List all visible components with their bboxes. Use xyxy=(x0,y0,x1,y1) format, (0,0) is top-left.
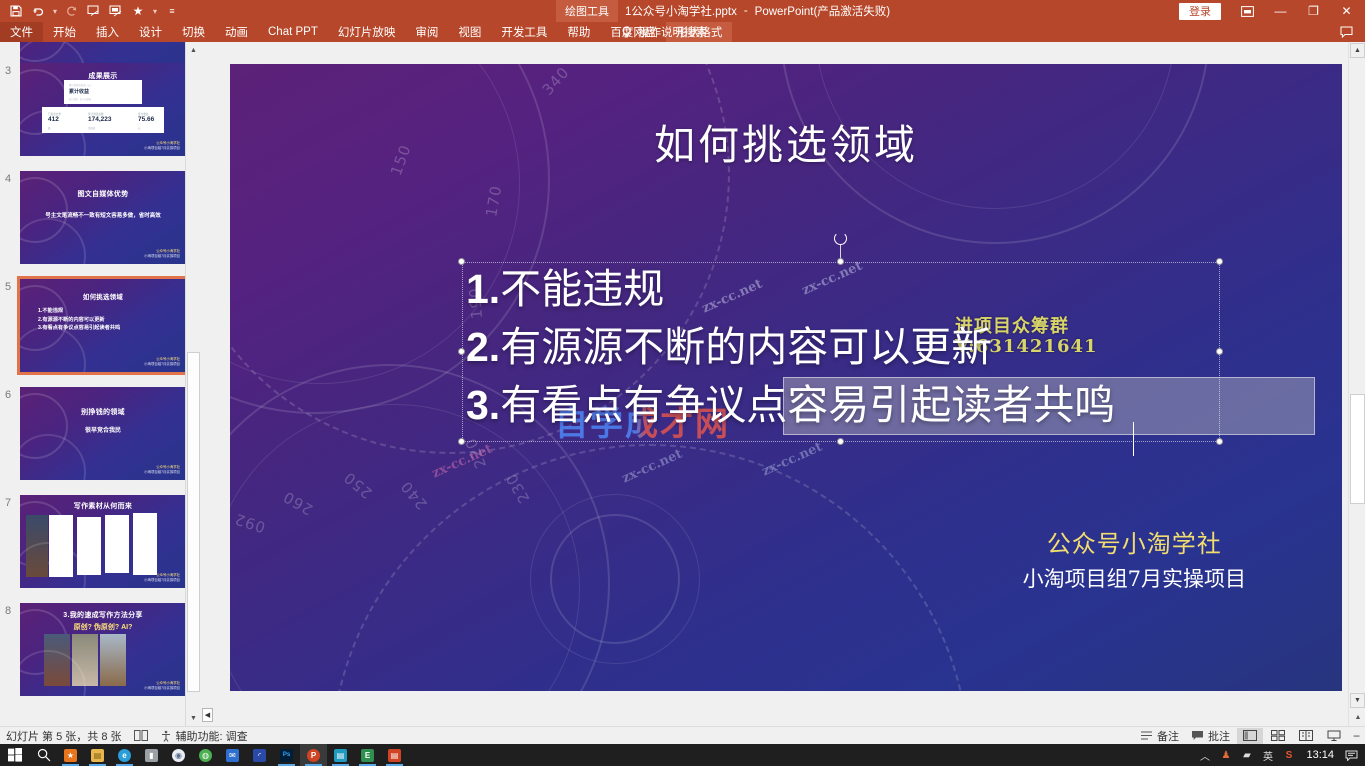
thumbnail-canvas: 写作素材从何而来 公众号小淘学社 小淘项目组7月实操项目 xyxy=(20,495,186,588)
decor-number: 340 xyxy=(539,64,574,99)
thumbnail-footer: 公众号小淘学社 小淘项目组7月实操项目 xyxy=(144,465,180,475)
taskbar-google-chrome[interactable]: ◍ xyxy=(192,744,219,766)
decor-ring xyxy=(230,404,580,691)
content-image xyxy=(49,515,73,577)
status-bar: 幻灯片 第 5 张，共 8 张 辅助功能: 调查 备注 批注 xyxy=(0,726,1365,744)
ribbon-display-options-icon[interactable] xyxy=(1231,0,1264,22)
start-from-current-slide-icon[interactable] xyxy=(106,1,126,21)
scroll-up-icon[interactable]: ▲ xyxy=(186,42,200,58)
windows-start-icon[interactable] xyxy=(0,744,30,766)
decor-number: 260 xyxy=(280,487,316,518)
start-slideshow-icon[interactable] xyxy=(84,1,104,21)
language-icon[interactable] xyxy=(128,730,154,741)
list-item[interactable]: 6 别挣钱的领域 很早竞合我民 公众号小淘学社 小淘项目组7月实操项目 xyxy=(0,387,200,480)
tab-file[interactable]: 文件 xyxy=(0,22,43,42)
undo-dropdown-icon[interactable]: ▾ xyxy=(50,7,60,16)
search-icon[interactable] xyxy=(30,744,57,766)
footer-brand-line: 公众号小淘学社 xyxy=(1023,524,1246,559)
accessibility-status[interactable]: 辅助功能: 调查 xyxy=(154,728,254,744)
taskbar-clock[interactable]: 13:14 xyxy=(1302,749,1338,761)
decor-number: 240 xyxy=(397,477,431,513)
restore-button[interactable]: ❐ xyxy=(1297,0,1330,22)
bullet-line-3[interactable]: 3.有看点有争议点容易引起读者共鸣 xyxy=(466,376,1236,434)
taskbar-app-leaf[interactable]: ◜ xyxy=(246,744,273,766)
tab-chat-ppt[interactable]: Chat PPT xyxy=(258,22,328,42)
thumbnail-frame[interactable]: 写作素材从何而来 公众号小淘学社 小淘项目组7月实操项目 xyxy=(20,495,186,588)
notes-button[interactable]: 备注 xyxy=(1134,728,1185,744)
tab-developer[interactable]: 开发工具 xyxy=(491,22,557,42)
sign-in-button[interactable]: 登录 xyxy=(1179,3,1221,20)
thumbnail-number: 3 xyxy=(0,63,20,156)
tab-view[interactable]: 视图 xyxy=(448,22,491,42)
list-item[interactable]: 7 写作素材从何而来 公众号小淘学社 小淘项目组7月实操项目 xyxy=(0,495,200,588)
zoom-out-button[interactable]: − xyxy=(1348,729,1365,743)
slide-title[interactable]: 如何挑选领域 xyxy=(230,111,1342,171)
rotation-handle[interactable] xyxy=(834,232,847,245)
taskbar-app-red-doc[interactable]: ▤ xyxy=(381,744,408,766)
tab-animations[interactable]: 动画 xyxy=(215,22,258,42)
window-controls: 登录 — ❐ ✕ xyxy=(1179,0,1363,22)
thumbnail-frame-selected[interactable]: 如何挑选领域 1.不能违规 2.有源源不断的内容可以更新 3.有看点有争议点容易… xyxy=(20,279,186,372)
document-title: 1公众号小淘学社.pptx xyxy=(625,3,737,19)
thumbnail-number: 5 xyxy=(0,279,20,372)
thumbnail-canvas: 3.我的速成写作方法分享 原创? 伪原创? AI? 公众号小淘学社 小淘项目组7… xyxy=(20,603,186,696)
taskbar-app-blue-mail[interactable]: ✉ xyxy=(219,744,246,766)
thumbnail-subtitle: 号主文笔流畅不一致有短文容易多做，省时高效 xyxy=(20,211,186,219)
thumbnail-title: 写作素材从何而来 xyxy=(20,501,186,511)
thumbnail-canvas: 别挣钱的领域 很早竞合我民 公众号小淘学社 小淘项目组7月实操项目 xyxy=(20,387,186,480)
footer-sub: 小淘项目组7月实操项目 xyxy=(144,686,180,691)
thumbnail-canvas: 成果展示 累计获得总收益（元） 累计收益 统计周期：近30天数据 已发表文章 4… xyxy=(20,63,186,156)
decor-ring xyxy=(530,494,700,664)
minimize-button[interactable]: — xyxy=(1264,0,1297,22)
thumbnail-frame[interactable]: 图文自媒体优势 号主文笔流畅不一致有短文容易多做，省时高效 公众号小淘学社 小淘… xyxy=(20,171,186,264)
tray-antivirus-icon[interactable]: ♟ xyxy=(1218,750,1233,761)
system-tray: ︿ ♟ ▰ 英 S 13:14 xyxy=(1197,748,1365,763)
taskbar-app-green-excel[interactable]: E xyxy=(354,744,381,766)
tray-ime-icon[interactable]: 英 xyxy=(1260,748,1275,763)
footer-sub-line: 小淘项目组7月实操项目 xyxy=(1023,563,1246,593)
thumbnail-canvas: 图文自媒体优势 号主文笔流畅不一致有短文容易多做，省时高效 公众号小淘学社 小淘… xyxy=(20,171,186,264)
decor-number: 250 xyxy=(340,468,376,502)
title-separator: - xyxy=(737,5,755,17)
bullet-line-1[interactable]: 1.不能违规 xyxy=(466,260,1236,318)
decor-number: 092 xyxy=(232,510,268,537)
scroll-up-icon[interactable]: ▲ xyxy=(1350,43,1365,58)
footer-sub: 小淘项目组7月实操项目 xyxy=(144,254,180,259)
notes-label: 备注 xyxy=(1157,728,1179,744)
decor-number: 170 xyxy=(482,184,505,218)
comment-icon[interactable] xyxy=(1335,22,1357,42)
thumbnail-frame[interactable]: 成果展示 累计获得总收益（元） 累计收益 统计周期：近30天数据 已发表文章 4… xyxy=(20,63,186,156)
thumbnail-number: 8 xyxy=(0,603,20,696)
thumbnail-footer: 公众号小淘学社 小淘项目组7月实操项目 xyxy=(144,141,180,151)
comments-label: 批注 xyxy=(1208,728,1230,744)
taskbar-app-teal-doc[interactable]: ▤ xyxy=(327,744,354,766)
thumbnail-bullets: 1.不能违规 2.有源源不断的内容可以更新 3.有看点有争议点容易引起读者共鸣 xyxy=(38,307,120,333)
accessibility-icon xyxy=(160,730,172,742)
thumbnail-canvas: 如何挑选领域 1.不能违规 2.有源源不断的内容可以更新 3.有看点有争议点容易… xyxy=(20,279,186,372)
tab-home[interactable]: 开始 xyxy=(43,22,86,42)
thumbnail-subtitle: 很早竞合我民 xyxy=(20,425,186,434)
slide-thumbnail-panel[interactable]: 3 成果展示 累计获得总收益（元） 累计收益 统计周期：近30天数据 已发表文章… xyxy=(0,42,200,726)
save-icon[interactable] xyxy=(6,1,26,21)
bullet-1: 1.不能违规 xyxy=(38,307,120,316)
list-item[interactable]: 4 图文自媒体优势 号主文笔流畅不一致有短文容易多做，省时高效 公众号小淘学社 … xyxy=(0,171,200,264)
previous-slide-icon[interactable]: ▲ xyxy=(1352,711,1364,724)
thumbnail-subtitle: 原创? 伪原创? AI? xyxy=(20,622,186,632)
stat-value: 174,223 xyxy=(88,116,112,123)
slideshow-view-button[interactable] xyxy=(1321,728,1347,744)
taskbar-microsoft-edge[interactable]: e xyxy=(111,744,138,766)
taskbar-usb-device[interactable]: ▮ xyxy=(138,744,165,766)
tab-slideshow[interactable]: 幻灯片放映 xyxy=(328,22,406,42)
taskbar-app-cloud[interactable]: ◉ xyxy=(165,744,192,766)
workspace: 3 成果展示 累计获得总收益（元） 累计收益 统计周期：近30天数据 已发表文章… xyxy=(0,42,1365,726)
taskbar-adobe-photoshop[interactable]: Ps xyxy=(273,744,300,766)
content-image xyxy=(100,634,126,686)
ribbon-tab-strip: 文件 开始 插入 设计 切换 动画 Chat PPT 幻灯片放映 审阅 视图 开… xyxy=(0,22,1365,42)
taskbar-app-orange-star[interactable]: ★ xyxy=(57,744,84,766)
bullet-number: 3. xyxy=(466,382,500,428)
tab-design[interactable]: 设计 xyxy=(129,22,172,42)
accessibility-label: 辅助功能: 调查 xyxy=(176,728,248,744)
panel-splitter[interactable]: ◀ xyxy=(200,42,215,726)
reading-view-button[interactable] xyxy=(1293,728,1319,744)
thumbnail-number: 6 xyxy=(0,387,20,480)
qat-overflow-icon[interactable]: ≡ xyxy=(162,1,182,21)
thumbnail-title: 如何挑选领域 xyxy=(20,292,186,301)
content-image xyxy=(26,515,48,577)
content-image xyxy=(72,634,98,686)
resize-handle-n[interactable] xyxy=(837,258,844,265)
slide-counter[interactable]: 幻灯片 第 5 张，共 8 张 xyxy=(0,728,128,744)
decor-ring xyxy=(550,514,680,644)
stat-label: 篇 xyxy=(48,126,50,130)
notification-icon[interactable] xyxy=(1344,750,1359,761)
lightbulb-icon xyxy=(620,26,632,38)
tray-sogou-icon[interactable]: S xyxy=(1281,750,1296,761)
resize-handle-w[interactable] xyxy=(458,348,465,355)
resize-handle-nw[interactable] xyxy=(458,258,465,265)
footer-sub: 小淘项目组7月实操项目 xyxy=(144,470,180,475)
thumbnail-footer: 公众号小淘学社 小淘项目组7月实操项目 xyxy=(144,573,180,583)
thumbnail-number: 4 xyxy=(0,171,20,264)
favorite-icon[interactable]: ★ xyxy=(128,1,148,21)
scrollbar-thumb[interactable] xyxy=(1350,394,1365,504)
thumbnail-footer: 公众号小淘学社 小淘项目组7月实操项目 xyxy=(144,357,180,367)
content-image xyxy=(77,517,101,575)
undo-icon[interactable] xyxy=(28,1,48,21)
vertical-scrollbar[interactable]: ▲ ▼ ▲ ▼ xyxy=(1348,42,1365,752)
tab-transitions[interactable]: 切换 xyxy=(172,22,215,42)
slide-editing-stage[interactable]: 340 150 170 190 220 230 240 250 260 092 … xyxy=(215,42,1331,706)
bullet-text: 有源源不断的内容可以更新 xyxy=(500,323,992,371)
taskbar-microsoft-powerpoint[interactable]: P xyxy=(300,744,327,766)
quick-access-toolbar: ▾ ★ ▾ ≡ xyxy=(6,0,182,22)
slide-footer[interactable]: 公众号小淘学社 小淘项目组7月实操项目 xyxy=(1023,524,1246,593)
list-item[interactable]: 3 成果展示 累计获得总收益（元） 累计收益 统计周期：近30天数据 已发表文章… xyxy=(0,63,200,156)
footer-sub: 小淘项目组7月实操项目 xyxy=(144,578,180,583)
thumbnail-scrollbar[interactable]: ▲ ▼ xyxy=(185,42,200,726)
app-title: PowerPoint(产品激活失败) xyxy=(755,3,890,19)
stat-label: 元 xyxy=(138,126,140,130)
taskbar-file-explorer[interactable]: ▤ xyxy=(84,744,111,766)
normal-view-button[interactable] xyxy=(1237,728,1263,744)
thumbnail-number: 7 xyxy=(0,495,20,588)
comments-icon xyxy=(1191,730,1204,741)
thumbnail-frame[interactable]: 别挣钱的领域 很早竞合我民 公众号小淘学社 小淘项目组7月实操项目 xyxy=(20,387,186,480)
stat-label: 次阅读 xyxy=(88,126,95,130)
redo-icon[interactable] xyxy=(62,1,82,21)
title-bar: ▾ ★ ▾ ≡ 绘图工具 1公众号小淘学社.pptx - PowerPoint(… xyxy=(0,0,1365,22)
tray-network-icon[interactable]: ▰ xyxy=(1239,750,1254,761)
resize-handle-se[interactable] xyxy=(1216,438,1223,445)
slide-body-text[interactable]: 1.不能违规 2.有源源不断的内容可以更新 3.有看点有争议点容易引起读者共鸣 xyxy=(466,260,1236,435)
watermark-site: zx-cc.net xyxy=(760,440,825,480)
close-button[interactable]: ✕ xyxy=(1330,0,1363,22)
bullet-text: 不能违规 xyxy=(500,265,664,313)
scrollbar-thumb[interactable] xyxy=(187,352,200,692)
current-slide-canvas[interactable]: 340 150 170 190 220 230 240 250 260 092 … xyxy=(230,64,1342,691)
customize-qat-icon[interactable]: ▾ xyxy=(150,7,160,16)
tab-insert[interactable]: 插入 xyxy=(86,22,129,42)
bullet-2: 2.有源源不断的内容可以更新 xyxy=(38,316,120,325)
stat-card-bottom: 已发表文章 412 篇 累计阅读总数 174,223 次阅读 累计收益 75.6… xyxy=(42,107,164,133)
stat-card-top: 累计获得总收益（元） 累计收益 统计周期：近30天数据 xyxy=(64,80,142,104)
resize-handle-s[interactable] xyxy=(837,438,844,445)
collapse-panel-icon[interactable]: ◀ xyxy=(202,708,213,722)
bullet-number: 1. xyxy=(466,266,500,312)
content-image xyxy=(44,634,70,686)
list-item[interactable]: 8 3.我的速成写作方法分享 原创? 伪原创? AI? 公众号小淘学社 小淘项目… xyxy=(0,603,200,696)
tell-me-search[interactable]: 操作说明搜索 xyxy=(620,22,707,42)
bullet-text: 有看点有争议点容易引起读者共鸣 xyxy=(500,381,1115,429)
resize-handle-ne[interactable] xyxy=(1216,258,1223,265)
thumbnail-footer: 公众号小淘学社 小淘项目组7月实操项目 xyxy=(144,681,180,691)
list-item[interactable]: 5 如何挑选领域 1.不能违规 2.有源源不断的内容可以更新 3.有看点有争议点… xyxy=(0,279,200,372)
windows-taskbar: ★ ▤ e ▮ ◉ ◍ ✉ ◜ Ps P ▤ E ▤ ︿ ♟ ▰ 英 S 13:… xyxy=(0,744,1365,766)
tab-help[interactable]: 帮助 xyxy=(557,22,600,42)
stat-value: 75.66 xyxy=(138,116,154,123)
comments-button[interactable]: 批注 xyxy=(1185,728,1236,744)
content-image xyxy=(133,513,157,575)
notes-icon xyxy=(1140,730,1153,741)
bullet-3: 3.有看点有争议点容易引起读者共鸣 xyxy=(38,324,120,333)
resize-handle-e[interactable] xyxy=(1216,348,1223,355)
tab-review[interactable]: 审阅 xyxy=(405,22,448,42)
watermark-site: zx-cc.net xyxy=(620,447,685,487)
tell-me-label: 操作说明搜索 xyxy=(638,24,707,40)
decor-number: 230 xyxy=(502,470,533,506)
slide-sorter-view-button[interactable] xyxy=(1265,728,1291,744)
scroll-down-icon[interactable]: ▼ xyxy=(186,710,200,726)
scroll-down-icon[interactable]: ▼ xyxy=(1350,693,1365,708)
decor-ring-dashed xyxy=(330,444,970,691)
window-title: 1公众号小淘学社.pptx - PowerPoint(产品激活失败) xyxy=(625,0,890,22)
thumbnail-title: 图文自媒体优势 xyxy=(20,189,186,199)
stat-caption: 已发表文章 xyxy=(48,112,61,116)
thumbnail-footer: 公众号小淘学社 小淘项目组7月实操项目 xyxy=(144,249,180,259)
stat-value: 412 xyxy=(48,116,59,123)
stat-value: 累计收益 xyxy=(69,88,89,95)
thumbnail-title: 3.我的速成写作方法分享 xyxy=(20,610,186,620)
bullet-number: 2. xyxy=(466,324,500,370)
text-cursor xyxy=(1133,422,1134,456)
context-tab-group-label: 绘图工具 xyxy=(556,0,618,22)
thumbnail-title: 别挣钱的领域 xyxy=(20,407,186,417)
footer-sub: 小淘项目组7月实操项目 xyxy=(144,362,180,367)
thumbnail-frame[interactable]: 3.我的速成写作方法分享 原创? 伪原创? AI? 公众号小淘学社 小淘项目组7… xyxy=(20,603,186,696)
footer-sub: 小淘项目组7月实操项目 xyxy=(144,146,180,151)
content-image xyxy=(105,515,129,573)
tray-expand-icon[interactable]: ︿ xyxy=(1197,748,1212,763)
resize-handle-sw[interactable] xyxy=(458,438,465,445)
bullet-line-2[interactable]: 2.有源源不断的内容可以更新 xyxy=(466,318,1236,376)
